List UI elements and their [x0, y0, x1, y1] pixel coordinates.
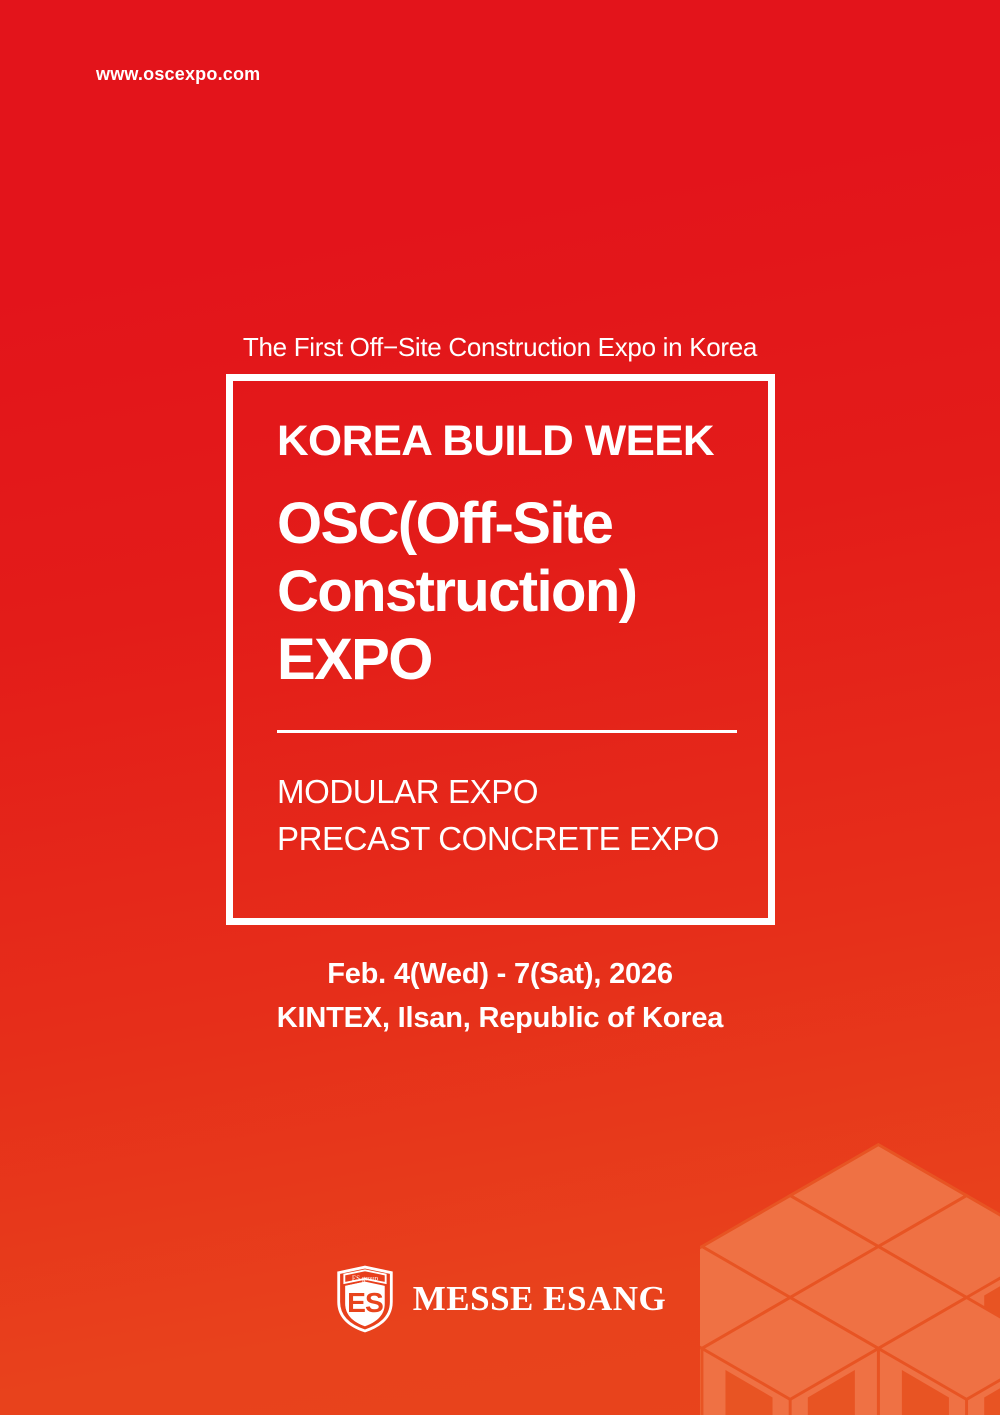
expo-title-line-3: EXPO: [277, 626, 724, 694]
expo-title-line-1: OSC(Off-Site: [277, 490, 724, 558]
sub-expo-list: MODULAR EXPO PRECAST CONCRETE EXPO: [277, 769, 724, 863]
expo-title-line-2: Construction): [277, 558, 724, 626]
event-venue: KINTEX, Ilsan, Republic of Korea: [0, 999, 1000, 1038]
sub-expo-item-modular: MODULAR EXPO: [277, 769, 724, 816]
event-meta: Feb. 4(Wed) - 7(Sat), 2026 KINTEX, Ilsan…: [0, 955, 1000, 1038]
expo-poster: www.oscexpo.com The First Off−Site Const…: [0, 0, 1000, 1415]
svg-text:ES: ES: [347, 1286, 383, 1318]
organizer-name: MESSE ESANG: [413, 1279, 667, 1319]
frame-divider: [277, 730, 737, 733]
event-date: Feb. 4(Wed) - 7(Sat), 2026: [0, 955, 1000, 994]
brand-title: KOREA BUILD WEEK: [277, 419, 733, 464]
svg-text:ES group: ES group: [352, 1275, 379, 1283]
organizer-logo: ES group ES MESSE ESANG: [0, 1264, 1000, 1334]
es-group-shield-icon: ES group ES: [334, 1264, 396, 1334]
sub-expo-item-precast: PRECAST CONCRETE EXPO: [277, 816, 724, 863]
title-frame: KOREA BUILD WEEK OSC(Off-Site Constructi…: [226, 374, 775, 925]
expo-title: OSC(Off-Site Construction) EXPO: [277, 490, 724, 694]
website-url[interactable]: www.oscexpo.com: [96, 64, 260, 85]
poster-tagline: The First Off−Site Construction Expo in …: [0, 332, 1000, 363]
